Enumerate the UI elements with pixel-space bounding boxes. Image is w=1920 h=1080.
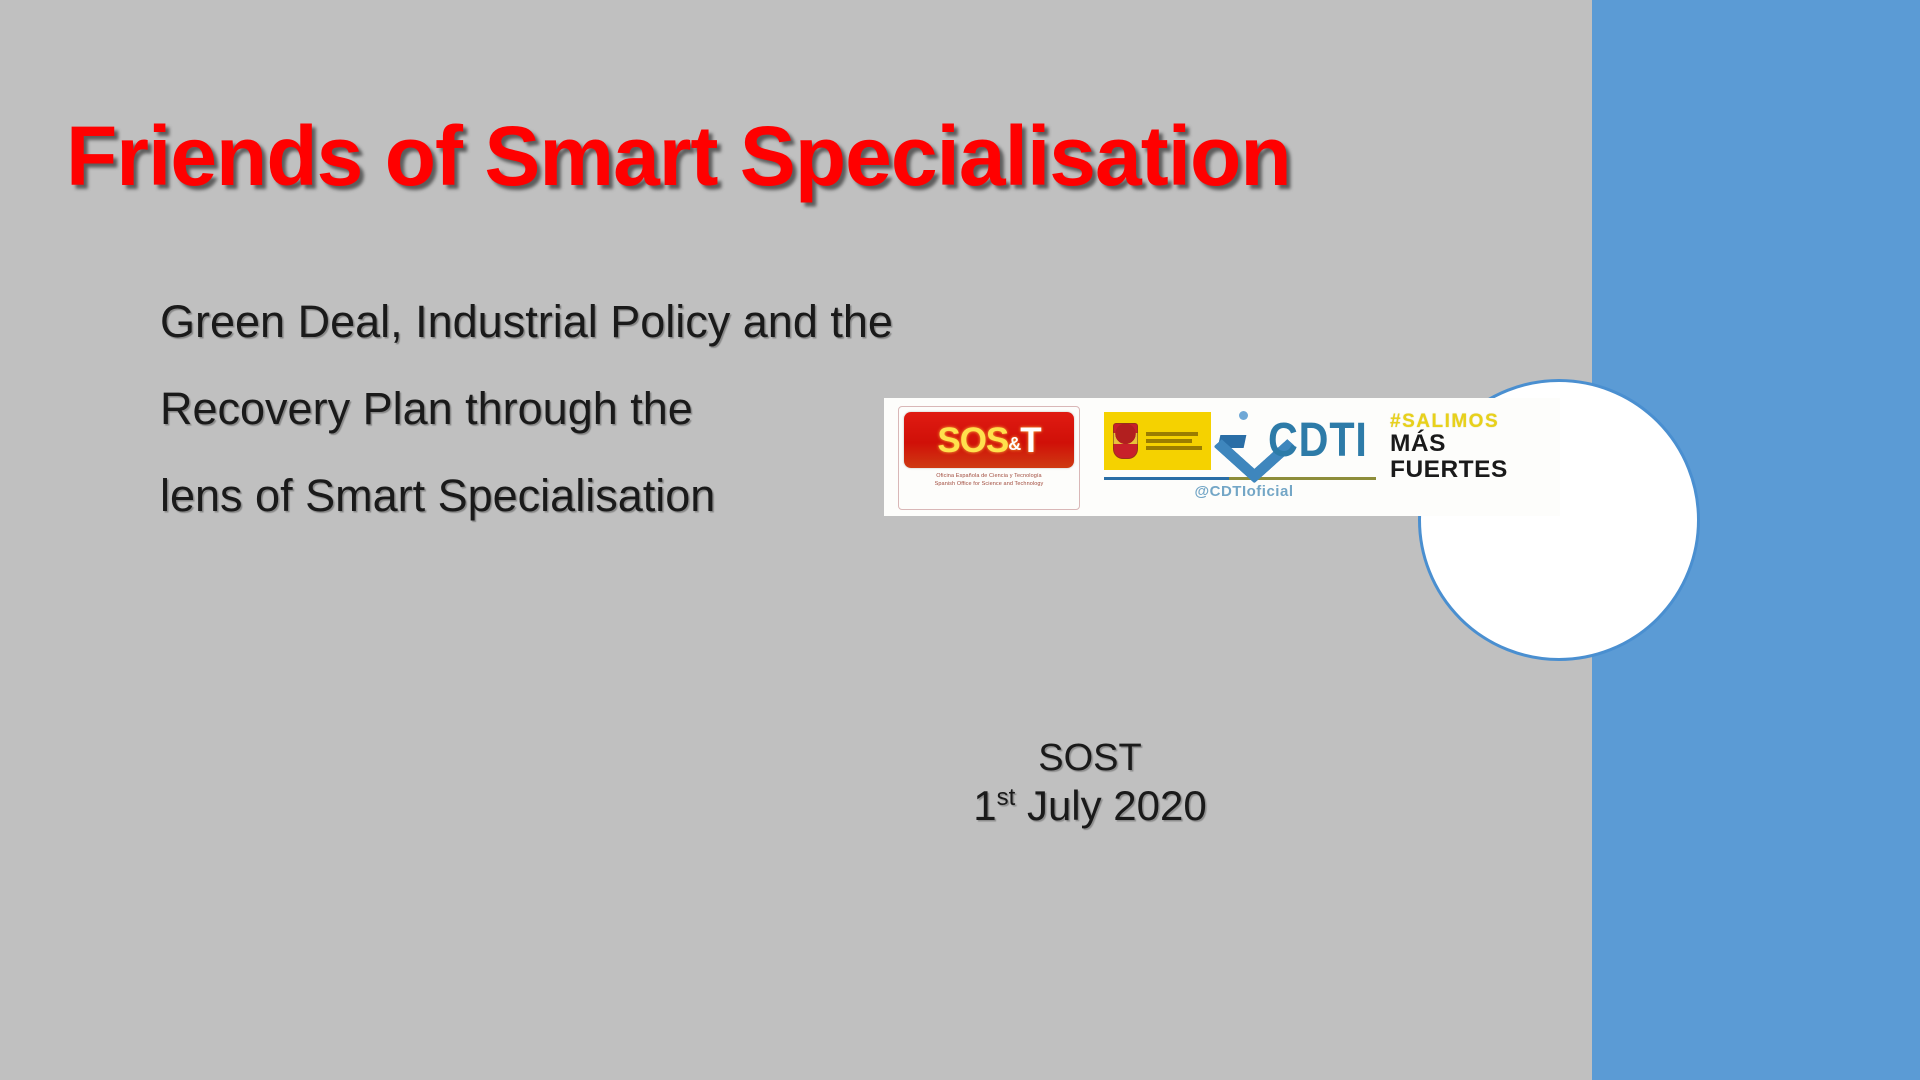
footer-date-rest: July 2020 xyxy=(1015,782,1206,829)
sost-tagline-line-2: Spanish Office for Science and Technolog… xyxy=(904,481,1074,489)
footer-date-ordinal: st xyxy=(997,784,1016,811)
sost-logo-badge: SOS&T xyxy=(904,412,1074,468)
salimos-hashtag: #SALIMOS xyxy=(1390,412,1554,431)
sost-wordmark-sos: SOS xyxy=(937,421,1008,460)
footer-block: SOST 1st July 2020 xyxy=(880,735,1300,831)
page-title: Friends of Smart Specialisation xyxy=(66,112,1366,200)
sost-wordmark: SOS&T xyxy=(937,423,1040,458)
sost-tagline-line-1: Oficina Española de Ciencia y Tecnología xyxy=(904,473,1074,481)
spanish-government-label xyxy=(1146,432,1202,450)
sost-tagline: Oficina Española de Ciencia y Tecnología… xyxy=(904,473,1074,488)
spain-coat-of-arms-icon xyxy=(1113,423,1138,459)
footer-date: 1st July 2020 xyxy=(880,781,1300,831)
salimos-line-fuertes: FUERTES xyxy=(1390,457,1557,483)
presentation-slide: Friends of Smart Specialisation Green De… xyxy=(0,0,1920,1080)
footer-date-number: 1 xyxy=(973,782,996,829)
sost-logo: SOS&T Oficina Española de Ciencia y Tecn… xyxy=(884,398,1090,516)
salimos-mas-fuertes-logo: #SALIMOS MÁS FUERTES xyxy=(1388,398,1560,516)
cdti-wordmark: CDTI xyxy=(1268,417,1368,465)
sost-logo-frame: SOS&T Oficina Española de Ciencia y Tecn… xyxy=(898,406,1080,510)
sost-wordmark-ampersand: & xyxy=(1008,434,1020,454)
cdti-logo: CDTI @CDTIoficial xyxy=(1100,398,1388,516)
logo-strip: SOS&T Oficina Española de Ciencia y Tecn… xyxy=(884,398,1560,516)
cdti-rule-divider xyxy=(1104,477,1376,480)
spanish-government-block xyxy=(1104,412,1211,470)
footer-organisation: SOST xyxy=(880,735,1300,781)
cdti-social-handle: @CDTIoficial xyxy=(1104,483,1384,500)
salimos-line-mas: MÁS xyxy=(1390,431,1557,457)
logo-divider xyxy=(1090,398,1100,516)
subtitle-line-1: Green Deal, Industrial Policy and the xyxy=(160,278,1060,365)
cdti-logo-row: CDTI xyxy=(1104,408,1384,474)
cdti-checkmark-icon xyxy=(1217,411,1264,471)
sost-wordmark-t: T xyxy=(1020,421,1040,460)
